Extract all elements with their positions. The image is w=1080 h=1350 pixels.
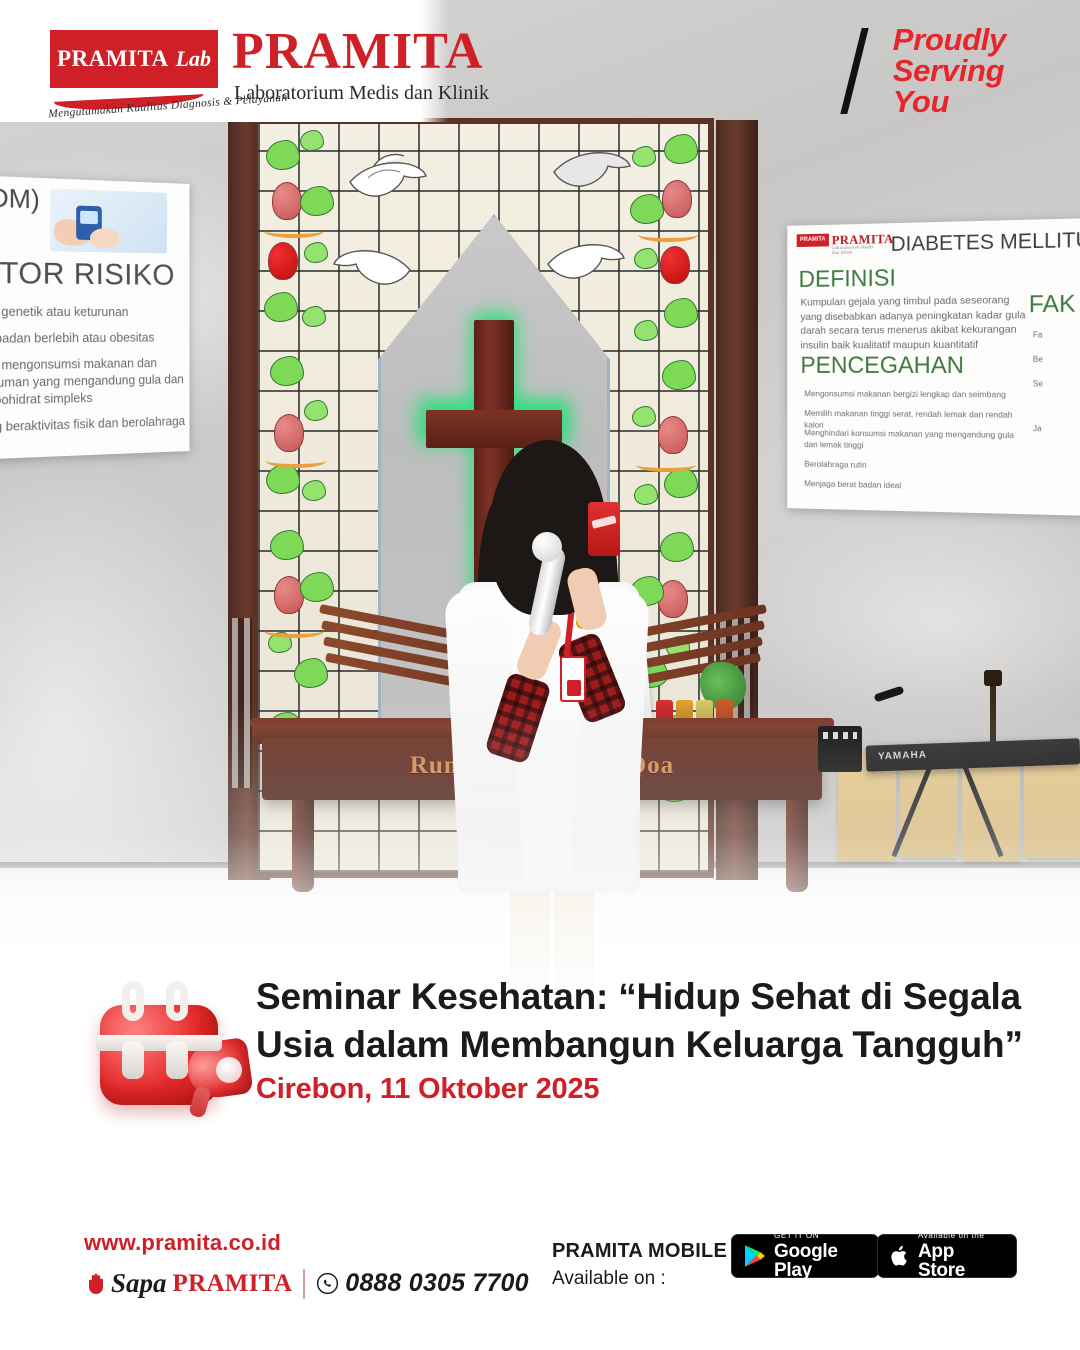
- slide-logo-box-text: PRAMITA: [797, 234, 829, 247]
- guitar: [980, 680, 1006, 750]
- keyboard-brand-label: YAMAHA: [878, 750, 927, 763]
- dove-icon: [548, 138, 634, 192]
- slide-faktor-bullet: Ja: [1033, 423, 1080, 435]
- google-play-badge[interactable]: GET IT ON Google Play: [731, 1234, 879, 1278]
- whatsapp-icon: [316, 1272, 339, 1295]
- pramita-mobile-block: PRAMITA MOBILE Available on :: [552, 1240, 727, 1290]
- phone-number[interactable]: 0888 0305 7700: [345, 1269, 529, 1298]
- slide-definisi-text: Kumpulan gejala yang timbul pada seseora…: [800, 293, 1026, 352]
- google-play-icon: [744, 1244, 766, 1268]
- footer-divider: [303, 1269, 305, 1299]
- google-play-small: GET IT ON: [774, 1232, 866, 1240]
- mobile-subtitle: Available on :: [552, 1268, 727, 1290]
- slide-right-logo: PRAMITA PRAMITA Laboratorium Medis dan K…: [797, 231, 879, 252]
- dove-icon: [344, 148, 430, 202]
- slide-heading-faktor: FAK: [1029, 290, 1076, 319]
- poster-root: RumahKu Rumah Doa: [0, 0, 1080, 1350]
- projector-screen-right: PRAMITA PRAMITA Laboratorium Medis dan K…: [787, 218, 1080, 516]
- logo-box-main: PRAMITA: [57, 46, 169, 72]
- app-store-big: App Store: [918, 1242, 1004, 1280]
- slide-image-left: [50, 188, 167, 253]
- logo-brand-name: PRAMITA: [232, 26, 484, 78]
- slide-right-title: DIABETES MELLITUS: [891, 228, 1080, 257]
- hand-icon: [84, 1272, 108, 1296]
- sapa-pramita-contact: Sapa PRAMITA 0888 0305 7700: [84, 1268, 529, 1299]
- apple-icon: [890, 1244, 910, 1268]
- event-photo: RumahKu Rumah Doa: [0, 0, 1080, 1010]
- slogan-line-2: Serving: [893, 55, 1006, 86]
- logo-box-lab: Lab: [176, 46, 211, 72]
- pramita-logo: PRAMITA Lab PRAMITA Laboratorium Medis d…: [50, 30, 218, 88]
- slogan-line-1: Proudly: [893, 24, 1006, 55]
- slide-heading-pencegahan: PENCEGAHAN: [800, 352, 964, 380]
- slide-left-bullets: ktor genetik atau keturunan rat badan be…: [0, 304, 188, 447]
- app-store-text: Available on the App Store: [918, 1232, 1004, 1280]
- projector-screen-left: (DM) KTOR RISIKO ktor genetik atau ketur…: [0, 176, 189, 459]
- app-store-small: Available on the: [918, 1232, 1004, 1240]
- slide-pencegahan-bullet: Mengonsumsi makanan bergizi lengkap dan …: [804, 388, 1026, 401]
- sapa-brand: PRAMITA: [173, 1270, 293, 1298]
- website-url[interactable]: www.pramita.co.id: [84, 1230, 281, 1256]
- slide-faktor-bullet: Be: [1033, 354, 1080, 365]
- speaker-figure: [452, 440, 642, 940]
- app-store-badge[interactable]: Available on the App Store: [877, 1234, 1017, 1278]
- mobile-title: PRAMITA MOBILE: [552, 1240, 727, 1263]
- slide-bullet: ring mengonsumsi makanan dan minuman yan…: [0, 355, 188, 410]
- event-title: Seminar Kesehatan: “Hidup Sehat di Segal…: [256, 973, 1066, 1069]
- keyboard-stand: [900, 766, 1020, 852]
- beverage-can: [588, 502, 620, 556]
- slide-left-title: (DM): [0, 182, 40, 216]
- logo-red-box: PRAMITA Lab: [50, 30, 218, 88]
- footer-bar: www.pramita.co.id Sapa PRAMITA 0888 0305…: [0, 1220, 1080, 1350]
- slide-bullet: rat badan berlebih atau obesitas: [0, 330, 188, 348]
- slide-bullet: rang beraktivitas fisik dan berolahraga: [0, 413, 188, 437]
- amplifier: [818, 726, 862, 772]
- altar-leg: [786, 800, 808, 892]
- sapa-word: Sapa: [111, 1268, 167, 1299]
- slide-logo-sub: Laboratorium Medis dan Klinik: [832, 244, 879, 255]
- google-play-big: Google Play: [774, 1242, 866, 1280]
- microphone-head: [532, 532, 562, 562]
- proudly-serving-you-slogan: Proudly Serving You: [893, 24, 1006, 117]
- google-play-text: GET IT ON Google Play: [774, 1232, 866, 1280]
- slide-heading-definisi: DEFINISI: [799, 265, 896, 294]
- slide-left-heading: KTOR RISIKO: [0, 256, 175, 293]
- slide-faktor-bullet: Se: [1033, 378, 1080, 389]
- altar-leg: [292, 800, 314, 892]
- dove-icon: [330, 236, 416, 290]
- caption-block: Seminar Kesehatan: “Hidup Sehat di Segal…: [0, 965, 1080, 1145]
- slogan-line-3: You: [893, 86, 1006, 117]
- slide-faktor-bullet: Fa: [1033, 329, 1080, 341]
- slide-pencegahan-bullet: Menghindari konsumsi makanan yang mengan…: [804, 427, 1026, 454]
- mic-stand: [874, 690, 904, 750]
- slide-pencegahan-bullet: Menjaga berat badan ideal: [804, 477, 1026, 494]
- id-badge: [560, 656, 586, 702]
- dove-icon: [542, 230, 628, 284]
- calendar-megaphone-icon: [92, 979, 252, 1109]
- slide-bullet: ktor genetik atau keturunan: [0, 304, 188, 322]
- event-location-date: Cirebon, 11 Oktober 2025: [256, 1073, 599, 1106]
- slide-pencegahan-bullet: Berolahraga rutin: [804, 458, 1026, 474]
